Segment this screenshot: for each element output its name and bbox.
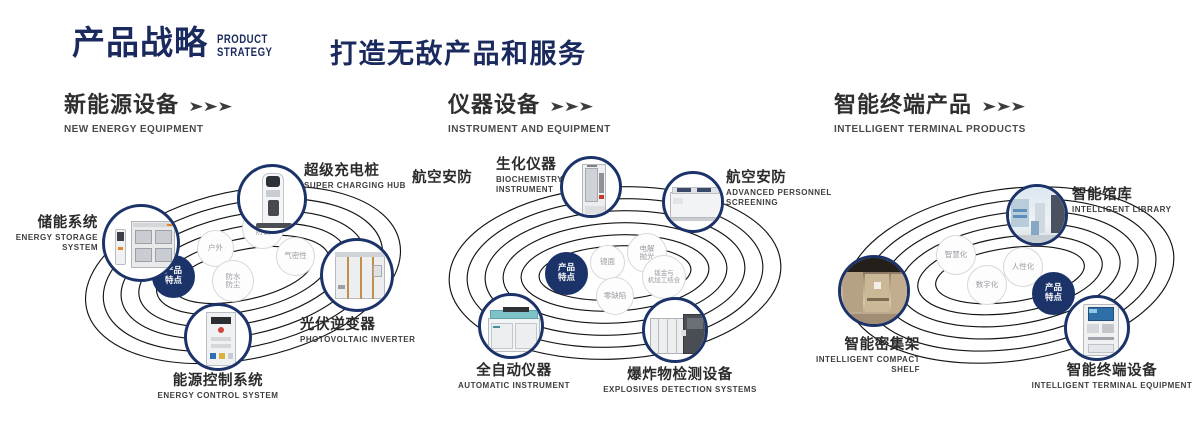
section-title-cn: 新能源设备: [64, 95, 179, 117]
page-subtitle: 打造无敌产品和服务: [330, 32, 587, 71]
section-title-en: INSTRUMENT AND EQUIPMENT: [448, 124, 611, 135]
section-title-cn: 智能终端产品: [834, 95, 972, 117]
caption-en: ENERGY STORAGE SYSTEM: [0, 233, 98, 253]
caption-cn: 生化仪器: [496, 157, 600, 173]
caption-en: INTELLIGENT LIBRARY: [1072, 205, 1200, 215]
node-super-charging-hub[interactable]: [237, 164, 307, 234]
section-title-instrument: 仪器设备 ➤➤➤ INSTRUMENT AND EQUIPMENT: [448, 95, 611, 135]
feature-line2: 机加工结合: [648, 277, 681, 284]
node-energy-storage-system[interactable]: [102, 204, 180, 282]
caption-intelligent-library: 智能馆库 INTELLIGENT LIBRARY: [1072, 187, 1200, 215]
feature-line1: 镜面: [600, 258, 615, 266]
feature-bubble-airtightness: 气密性: [276, 237, 315, 276]
feature-bubble-sheetmetal-machining: 钣金与 机加工结合: [642, 255, 686, 299]
caption-en: BIOCHEMISTRY INSTRUMENT: [496, 175, 600, 195]
explosives-detection-image: [645, 300, 705, 360]
cluster-intelligent: 智慧化 数字化 人性化 产品 特点: [820, 155, 1190, 395]
cluster-instrument: 产品 特点 镜面 电解 抛光 零缺陷 钣金与 机加工结合 航空安防: [430, 155, 800, 395]
cluster-new-energy: 产品 特点 户外 防腐 防锈 防水 防尘 气密性: [60, 155, 420, 395]
feature-line2: 防尘: [226, 281, 241, 289]
core-line2: 特点: [1045, 294, 1062, 304]
node-energy-control-system[interactable]: [184, 303, 252, 371]
feature-bubble-waterproof: 防水 防尘: [212, 260, 254, 302]
feature-line1: 气密性: [284, 252, 307, 260]
caption-en: PHOTOVOLTAIC INVERTER: [300, 335, 450, 345]
caption-en: EXPLOSIVES DETECTION SYSTEMS: [580, 385, 780, 395]
caption-cn: 储能系统: [0, 215, 98, 231]
caption-cn: 光伏逆变器: [300, 317, 450, 333]
caption-cn: 智能终端设备: [1010, 363, 1200, 379]
caption-cn: 航空安防: [412, 170, 508, 186]
node-photovoltaic-inverter[interactable]: [320, 238, 394, 312]
caption-intelligent-compact-shelf: 智能密集架 INTELLIGENT COMPACT SHELF: [764, 337, 920, 375]
section-title-en: NEW ENERGY EQUIPMENT: [64, 124, 220, 135]
core-bubble-product-features: 产品 特点: [545, 252, 588, 295]
feature-bubble-zero-defect: 零缺陷: [596, 277, 634, 315]
caption-photovoltaic-inverter: 光伏逆变器 PHOTOVOLTAIC INVERTER: [300, 317, 450, 345]
intelligent-library-image: [1009, 187, 1065, 243]
automatic-instrument-image: [481, 296, 541, 356]
energy-storage-system-image: [105, 207, 177, 279]
node-intelligent-compact-shelf[interactable]: [838, 255, 910, 327]
page-title-cn: 产品战略: [72, 26, 208, 59]
caption-aviation-security: 航空安防: [412, 170, 508, 186]
intelligent-compact-shelf-image: [841, 258, 907, 324]
section-title-intelligent: 智能终端产品 ➤➤➤ INTELLIGENT TERMINAL PRODUCTS: [834, 95, 1026, 135]
super-charging-hub-image: [240, 167, 304, 231]
feature-line1: 数字化: [976, 281, 999, 289]
caption-biochemistry-instrument: 生化仪器 BIOCHEMISTRY INSTRUMENT: [496, 157, 600, 195]
caption-cn: 能源控制系统: [88, 373, 348, 389]
feature-line1: 智慧化: [945, 251, 968, 259]
chevron-right-icon: ➤➤➤: [981, 98, 1024, 115]
feature-line1: 零缺陷: [604, 292, 627, 300]
section-title-en: INTELLIGENT TERMINAL PRODUCTS: [834, 124, 1026, 135]
intelligent-terminal-equipment-image: [1067, 298, 1127, 358]
caption-energy-control-system: 能源控制系统 ENERGY CONTROL SYSTEM: [88, 373, 348, 401]
energy-control-system-image: [187, 306, 249, 368]
feature-line1: 人性化: [1012, 263, 1035, 271]
caption-en: ENERGY CONTROL SYSTEM: [88, 391, 348, 401]
node-advanced-personnel-screening[interactable]: [662, 171, 724, 233]
feature-line1: 户外: [208, 244, 223, 252]
photovoltaic-inverter-image: [323, 241, 391, 309]
core-line2: 特点: [558, 274, 575, 284]
section-title-cn: 仪器设备: [448, 95, 540, 117]
caption-en: INTELLIGENT TERMINAL EQUIPMENT: [1010, 381, 1200, 391]
advanced-personnel-screening-image: [665, 174, 721, 230]
node-intelligent-terminal-equipment[interactable]: [1064, 295, 1130, 361]
node-explosives-detection[interactable]: [642, 297, 708, 363]
caption-cn: 智能馆库: [1072, 187, 1200, 203]
caption-explosives-detection: 爆炸物检测设备 EXPLOSIVES DETECTION SYSTEMS: [580, 367, 780, 395]
caption-cn: 爆炸物检测设备: [580, 367, 780, 383]
chevron-right-icon: ➤➤➤: [188, 98, 231, 115]
section-title-new-energy: 新能源设备 ➤➤➤ NEW ENERGY EQUIPMENT: [64, 95, 220, 135]
node-intelligent-library[interactable]: [1006, 184, 1068, 246]
caption-intelligent-terminal-equipment: 智能终端设备 INTELLIGENT TERMINAL EQUIPMENT: [1010, 363, 1200, 391]
node-automatic-instrument[interactable]: [478, 293, 544, 359]
feature-bubble-intelligence: 智慧化: [936, 235, 976, 275]
feature-bubble-digitalization: 数字化: [967, 265, 1007, 305]
poster-canvas: 产品战略 PRODUCT STRATEGY 打造无敌产品和服务 新能源设备 ➤➤…: [0, 0, 1200, 422]
chevron-right-icon: ➤➤➤: [549, 98, 592, 115]
feature-bubble-mirror-finish: 镜面: [590, 245, 625, 280]
page-title-en: PRODUCT STRATEGY: [217, 33, 272, 58]
caption-cn: 智能密集架: [764, 337, 920, 353]
caption-energy-storage-system: 储能系统 ENERGY STORAGE SYSTEM: [0, 215, 98, 253]
caption-en: INTELLIGENT COMPACT SHELF: [764, 355, 920, 375]
page-title: 产品战略 PRODUCT STRATEGY: [72, 26, 286, 59]
